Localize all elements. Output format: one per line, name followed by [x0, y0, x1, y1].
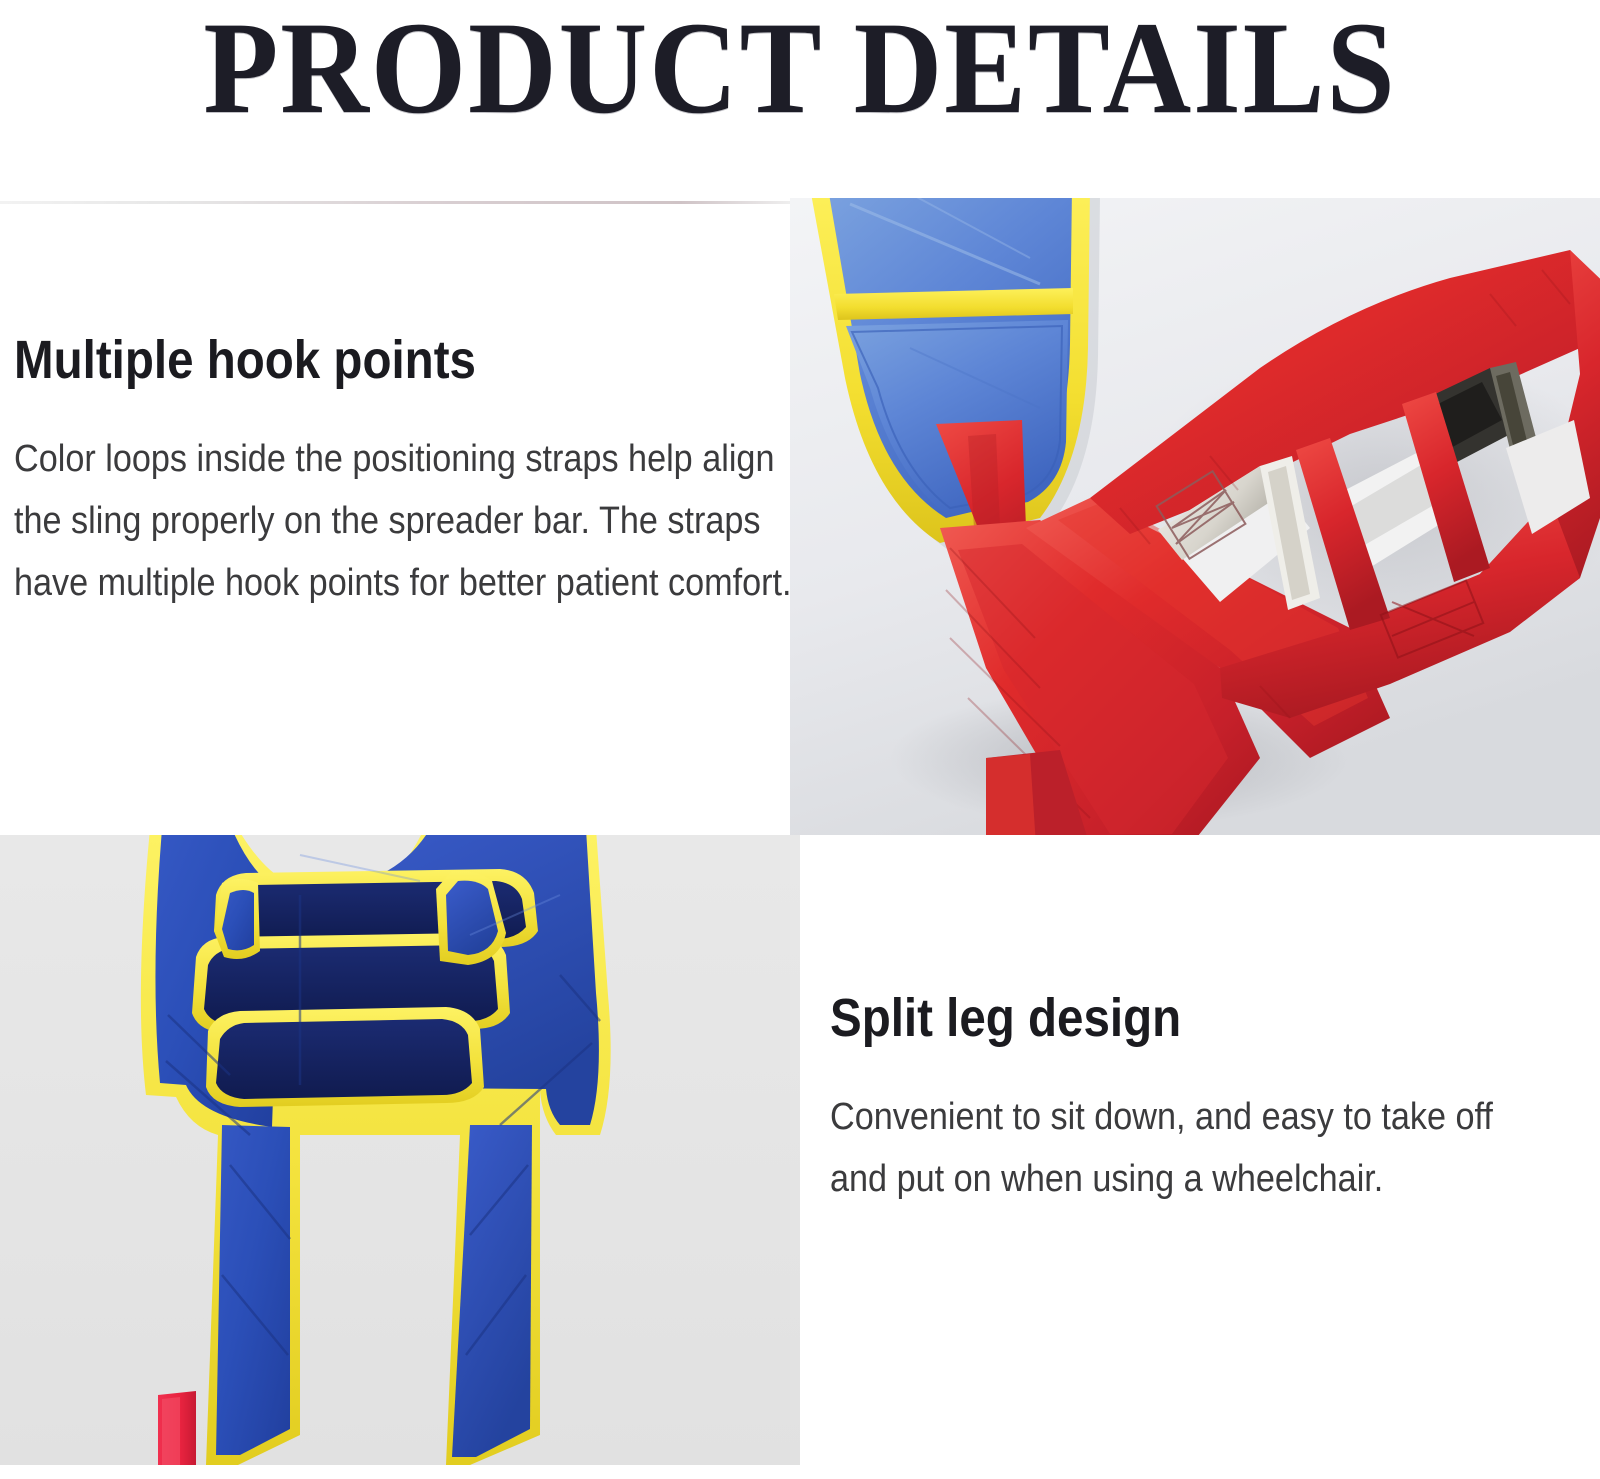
feature-heading-split-leg: Split leg design: [830, 988, 1499, 1048]
feature-body-split-leg: Convenient to sit down, and easy to take…: [830, 1086, 1532, 1210]
photo-strap-hook-points: [790, 198, 1600, 835]
title-band: PRODUCT DETAILS: [0, 0, 1600, 200]
feature-heading-hook-points: Multiple hook points: [14, 330, 718, 390]
title-divider: [0, 201, 792, 204]
red-strap-tip: [158, 1391, 196, 1465]
feature-body-hook-points: Color loops inside the positioning strap…: [14, 428, 797, 614]
feature-block-split-leg: Split leg design Convenient to sit down,…: [830, 988, 1590, 1210]
photo-split-leg-sling: [0, 835, 800, 1465]
page-title: PRODUCT DETAILS: [56, 2, 1544, 134]
feature-block-hook-points: Multiple hook points Color loops inside …: [14, 330, 814, 614]
